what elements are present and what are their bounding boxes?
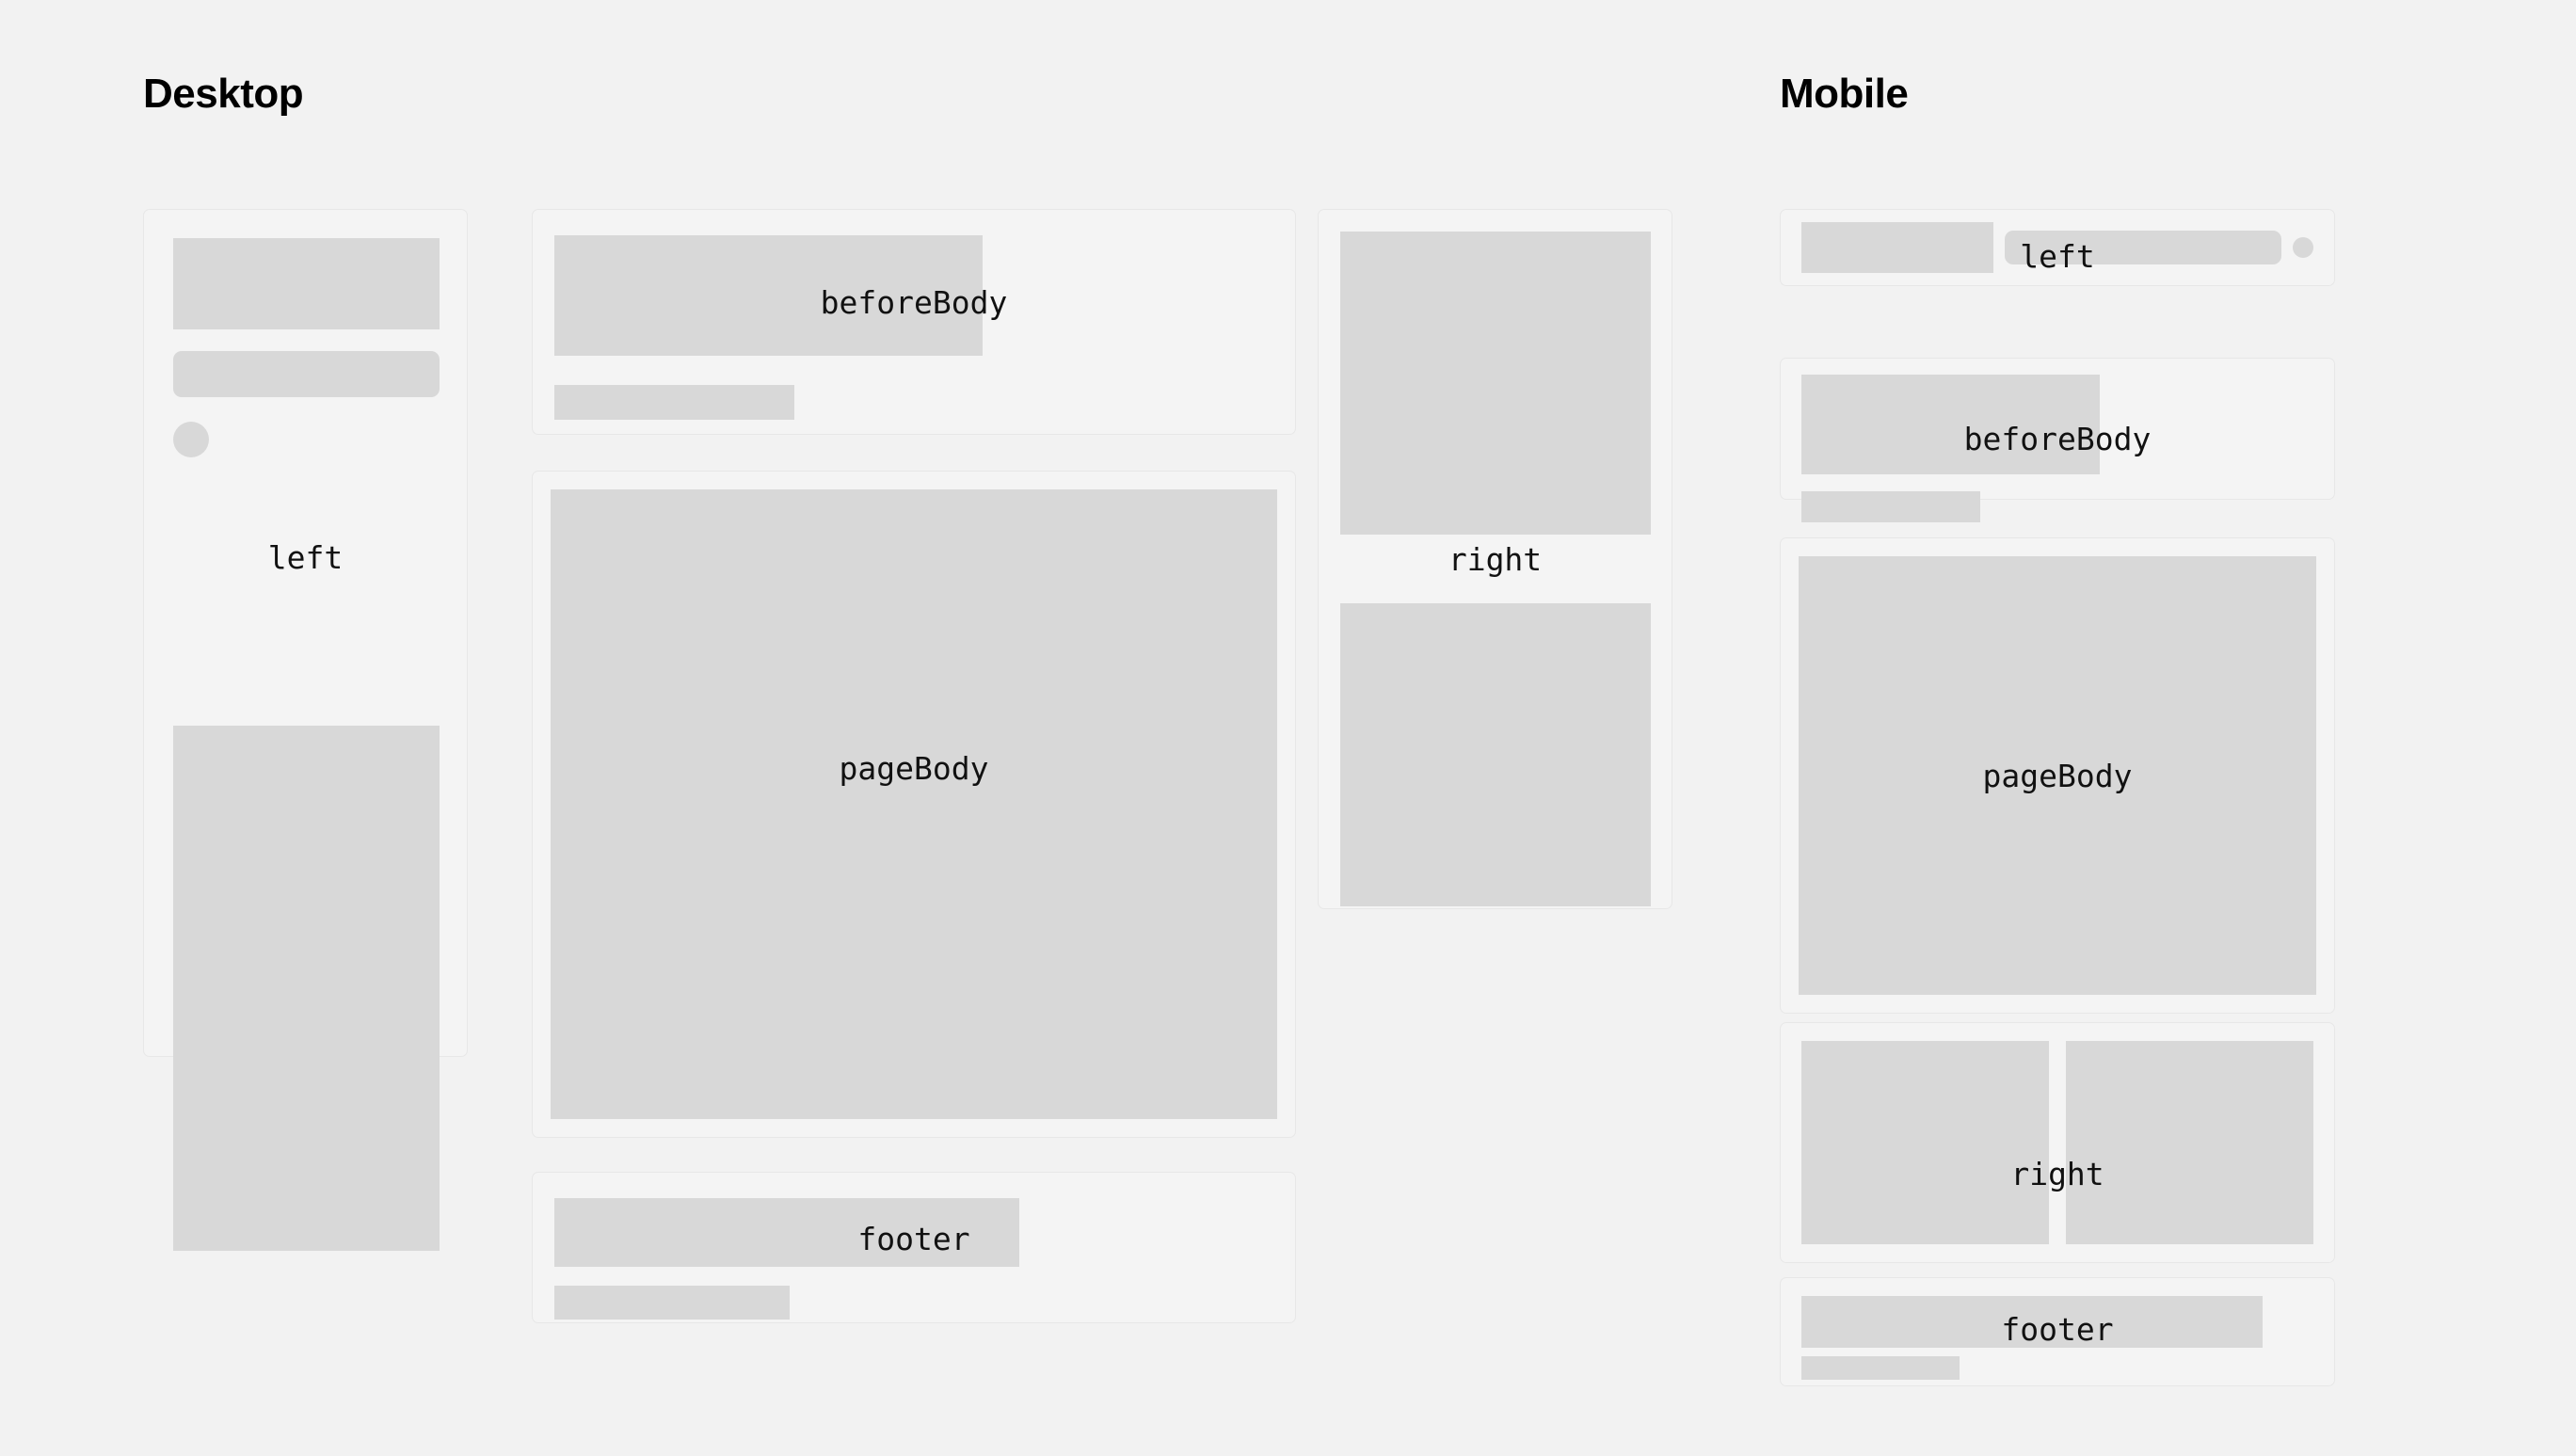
mobile-footer-region-content xyxy=(1781,1278,2334,1385)
desktop-left-region-panel[interactable] xyxy=(143,209,468,1057)
placeholder-block xyxy=(1801,1041,2049,1244)
placeholder-block xyxy=(173,238,440,329)
placeholder-block xyxy=(1801,222,1993,273)
mobile-left-region-panel[interactable] xyxy=(1780,209,2335,286)
desktop-left-region-content xyxy=(144,210,467,1056)
mobile-left-region-content xyxy=(1781,210,2334,285)
desktop-right-region-panel[interactable] xyxy=(1318,209,1672,909)
desktop-pagebody-region-panel[interactable] xyxy=(532,471,1296,1138)
placeholder-block xyxy=(173,726,440,1251)
mobile-right-region-content xyxy=(1781,1023,2334,1262)
mobile-section-title: Mobile xyxy=(1780,73,1908,115)
placeholder-block xyxy=(2066,1041,2313,1244)
placeholder-avatar-circle xyxy=(2293,237,2313,258)
desktop-pagebody-region-content xyxy=(533,472,1295,1137)
mobile-pagebody-region-panel[interactable] xyxy=(1780,537,2335,1014)
placeholder-bar xyxy=(2005,231,2281,264)
mobile-footer-region-panel[interactable] xyxy=(1780,1277,2335,1386)
desktop-beforebody-region-panel[interactable] xyxy=(532,209,1296,435)
placeholder-block xyxy=(551,489,1277,1119)
mobile-pagebody-region-content xyxy=(1781,538,2334,1013)
desktop-right-region-content xyxy=(1319,210,1672,908)
placeholder-block xyxy=(1801,375,2100,474)
placeholder-block xyxy=(554,235,983,356)
placeholder-block xyxy=(1340,232,1651,535)
placeholder-avatar-circle xyxy=(173,422,209,457)
wireframe-canvas: Desktop left beforeBody pageBody footer xyxy=(0,0,2576,1456)
mobile-left-row xyxy=(1801,223,2313,272)
placeholder-block xyxy=(554,1198,1019,1267)
mobile-right-region-panel[interactable] xyxy=(1780,1022,2335,1263)
placeholder-block xyxy=(1340,603,1651,906)
placeholder-block xyxy=(1801,1296,2263,1348)
mobile-beforebody-region-panel[interactable] xyxy=(1780,358,2335,500)
placeholder-bar xyxy=(1801,1356,1960,1380)
mobile-beforebody-region-content xyxy=(1781,359,2334,499)
desktop-footer-region-content xyxy=(533,1173,1295,1322)
desktop-beforebody-region-content xyxy=(533,210,1295,434)
desktop-section-title: Desktop xyxy=(143,73,303,115)
placeholder-block xyxy=(1799,556,2316,995)
placeholder-bar xyxy=(554,385,794,420)
desktop-footer-region-panel[interactable] xyxy=(532,1172,1296,1323)
mobile-right-row xyxy=(1801,1041,2313,1244)
placeholder-bar xyxy=(554,1286,790,1320)
placeholder-bar xyxy=(173,351,440,397)
placeholder-bar xyxy=(1801,491,1980,522)
